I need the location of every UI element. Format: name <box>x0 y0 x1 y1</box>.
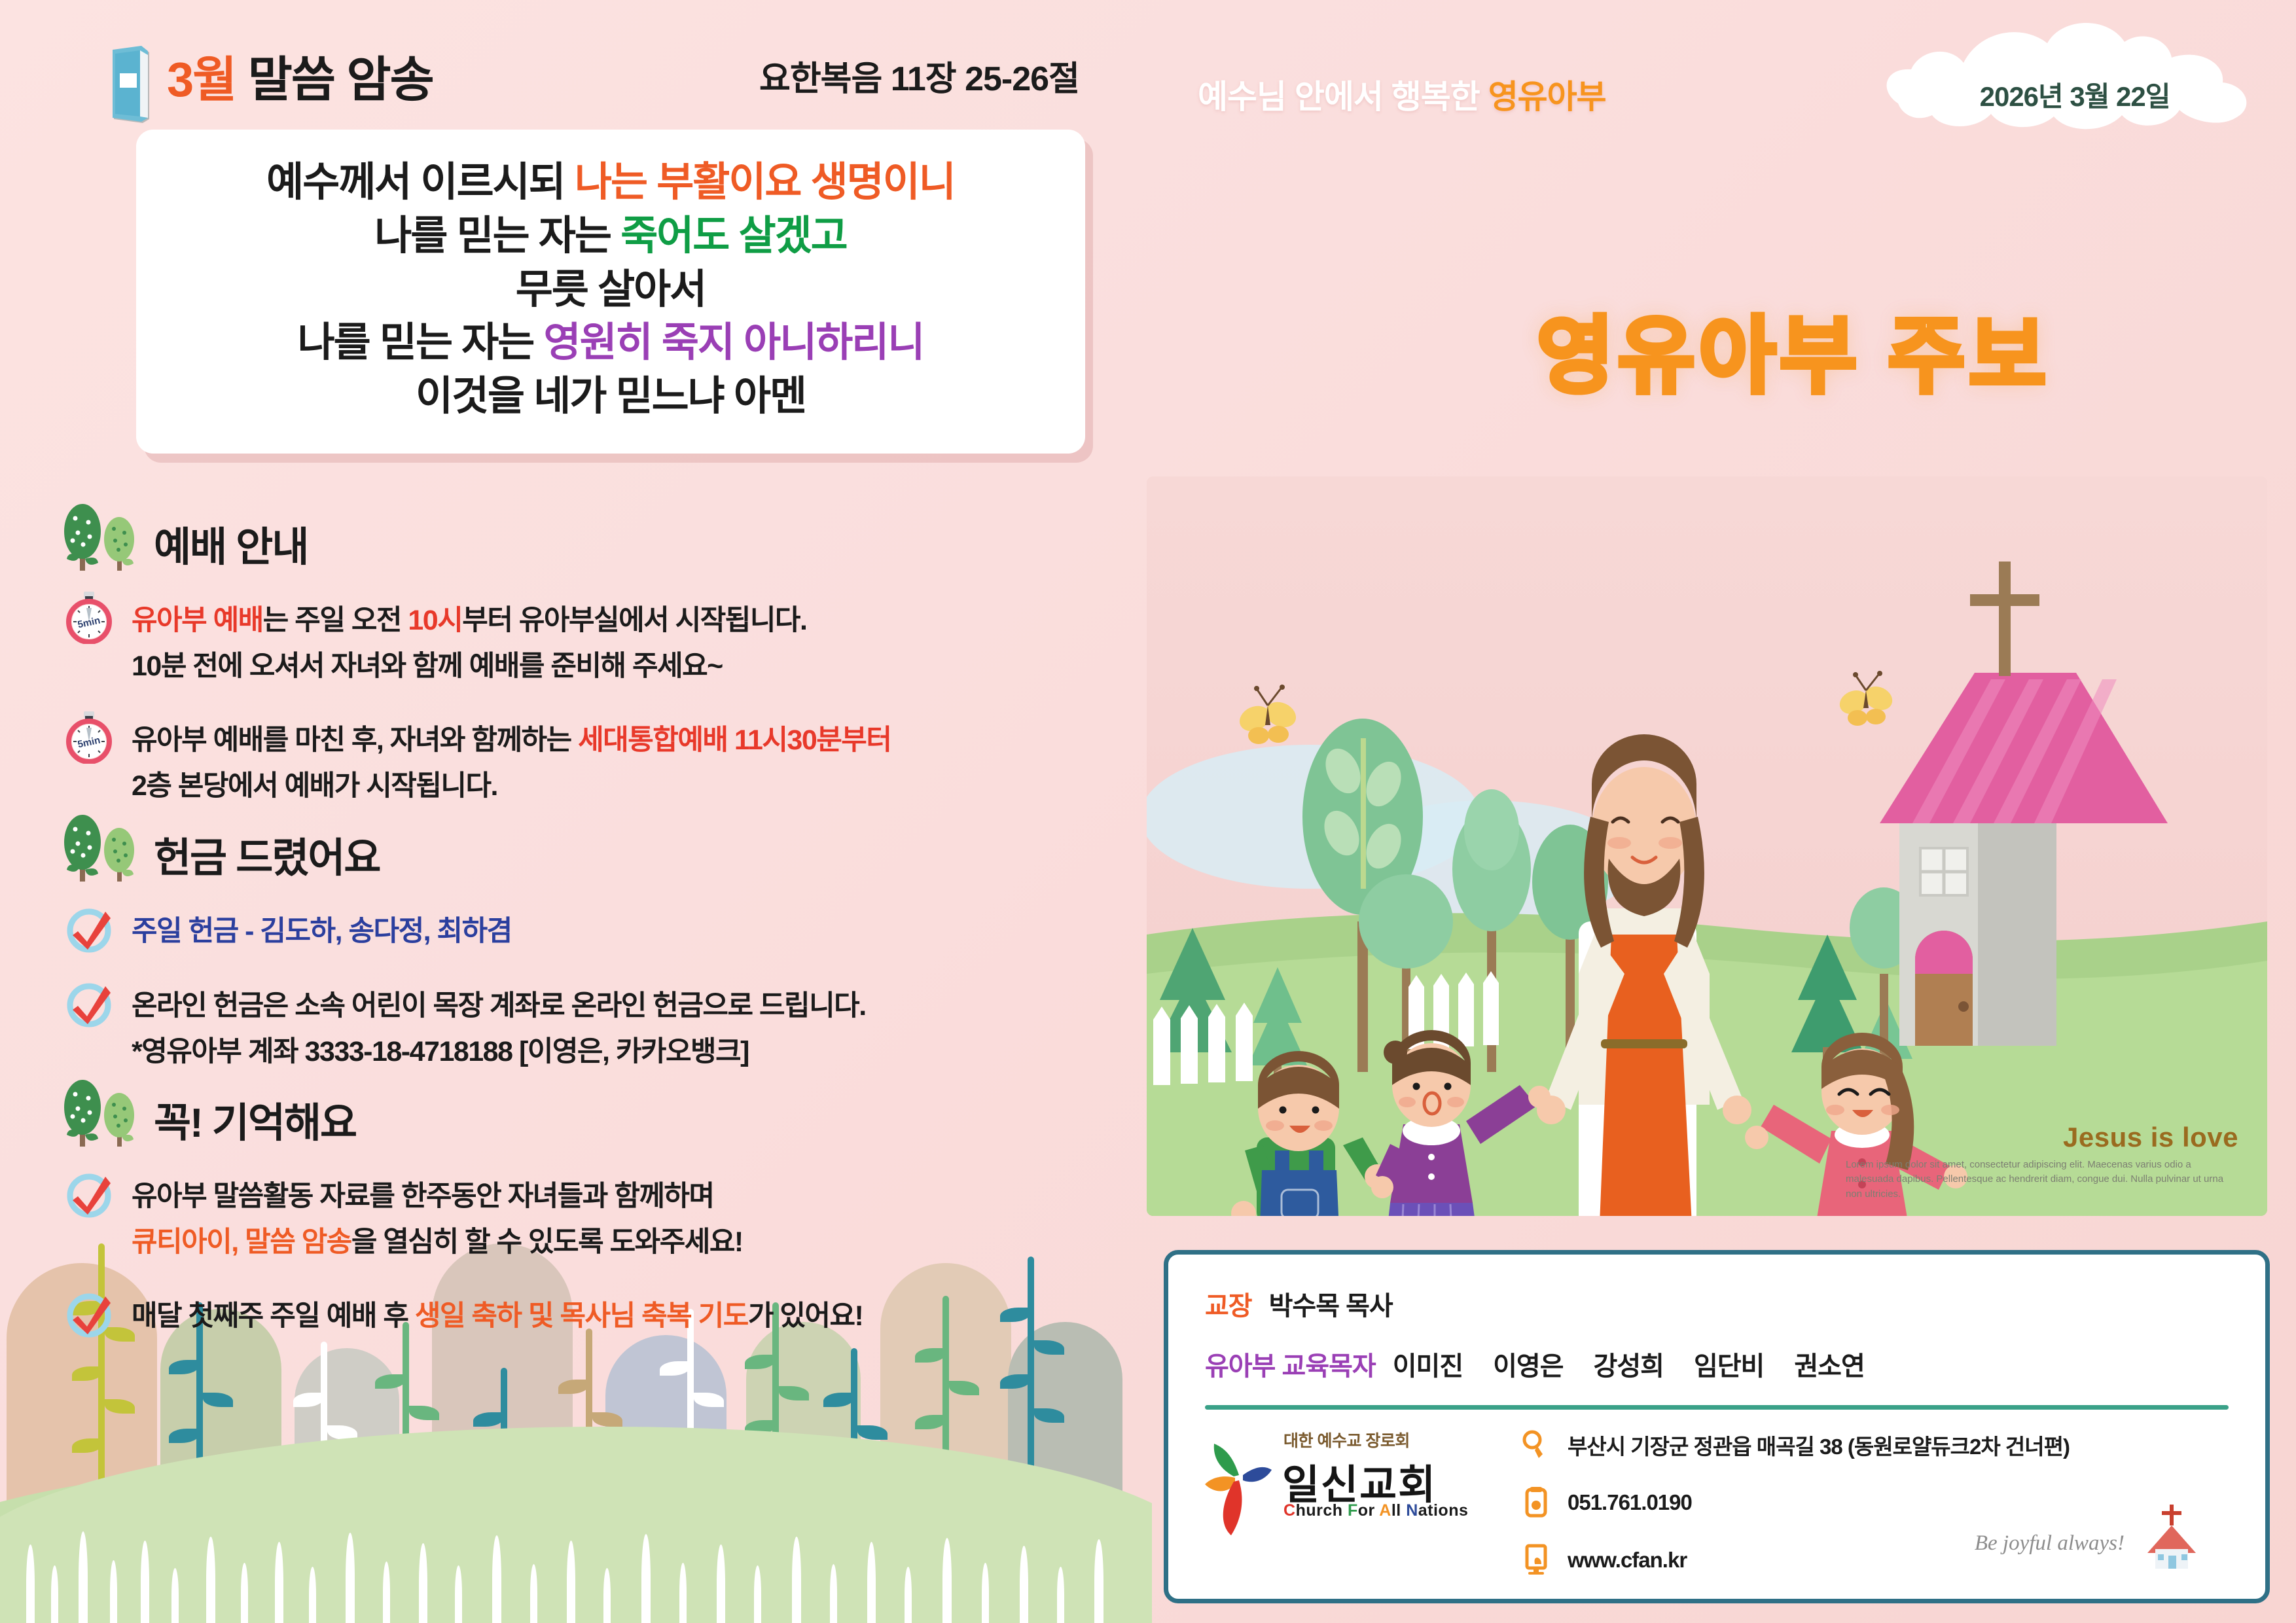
bulletin-main-title: 영유아부 주보 <box>1414 288 2173 409</box>
trees-icon <box>62 504 142 572</box>
check-circle-icon <box>62 976 116 1029</box>
verse-line: 예수께서 이르시되 나는 부활이요 생명이니 <box>156 156 1066 209</box>
monitor-icon <box>1519 1543 1553 1577</box>
section-header: 헌금 드렸어요 <box>62 815 1122 883</box>
date-cloud: 2026년 3월 22일 <box>1872 12 2278 133</box>
list-item: 온라인 헌금은 소속 어린이 목장 계좌로 온라인 헌금으로 드립니다.*영유아… <box>62 980 1122 1075</box>
principal-row: 교장 박수목 목사 <box>1205 1285 2229 1323</box>
list-item: 5min 유아부 예배는 주일 오전 10시부터 유아부실에서 시작됩니다.10… <box>62 594 1122 689</box>
memory-verse-card: 예수께서 이르시되 나는 부활이요 생명이니나를 믿는 자는 죽어도 살겠고무릇… <box>136 130 1085 454</box>
item-segment-0: 주일 헌금 - 김도하, 송다정, 최하겸 <box>132 916 512 947</box>
logo-denomination: 대한 예수교 장로회 <box>1283 1428 1410 1452</box>
contact-text: 051.761.0190 <box>1568 1490 1692 1515</box>
book-icon <box>111 46 152 123</box>
info-divider <box>1205 1405 2229 1410</box>
contact-row: 부산시 기장군 정관읍 매곡길 38 (동원로얄듀크2차 건너편) <box>1519 1428 2229 1462</box>
item-segment-0: 2층 본당에서 예배가 시작됩니다. <box>132 770 497 802</box>
logo-english-part: hurch <box>1296 1501 1348 1520</box>
section-offering: 헌금 드렸어요 주일 헌금 - 김도하, 송다정, 최하겸 온라인 헌금은 소속… <box>62 815 1122 1099</box>
verse-line: 무릇 살아서 <box>156 263 1066 317</box>
trees-icon <box>62 815 142 883</box>
logo-english-part: N <box>1406 1501 1418 1520</box>
stopwatch-icon: 5min <box>62 590 116 644</box>
teacher-name: 임단비 <box>1694 1345 1764 1383</box>
verse-segment-0: 나를 믿는 자는 <box>374 213 620 259</box>
item-segment-0: 큐티아이, 말씀 암송 <box>132 1226 351 1258</box>
contact-row: 051.761.0190 <box>1519 1486 2229 1520</box>
item-segment-0: 매달 첫째주 주일 예배 후 <box>132 1300 415 1332</box>
illustration-body-text: Lorem ipsum dolor sit amet, consectetur … <box>1846 1158 2238 1202</box>
church-logo: 대한 예수교 장로회 일신교회 Church For All Nations <box>1205 1428 1486 1601</box>
monitor-icon <box>1519 1543 1553 1577</box>
logo-english-part: F <box>1348 1501 1358 1520</box>
check-circle-icon <box>62 1286 116 1340</box>
location-search-icon <box>1519 1428 1553 1462</box>
title-rest-label: 말씀 암송 <box>236 52 433 107</box>
logo-english-part: A <box>1379 1501 1391 1520</box>
verse-segment-0: 이것을 네가 믿느냐 아멘 <box>416 374 806 419</box>
section-title: 꼭! 기억해요 <box>154 1103 356 1148</box>
butterfly-icon <box>1836 671 1896 726</box>
verse-lines: 예수께서 이르시되 나는 부활이요 생명이니나를 믿는 자는 죽어도 살겠고무릇… <box>156 156 1066 423</box>
principal-name: 박수목 목사 <box>1269 1285 1393 1323</box>
logo-english-part: or <box>1358 1501 1380 1520</box>
item-line: 10분 전에 오셔서 자녀와 함께 예배를 준비해 주세요~ <box>132 644 806 690</box>
item-segment-0: *영유아부 계좌 3333-18-4718188 [이영은, 카카오뱅크] <box>132 1036 749 1067</box>
stopwatch-icon: 5min <box>62 590 116 644</box>
phone-icon <box>1519 1486 1553 1520</box>
stopwatch-icon: 5min <box>62 710 116 764</box>
trees-icon <box>62 1080 142 1148</box>
item-line: 2층 본당에서 예배가 시작됩니다. <box>132 764 891 810</box>
teacher-name-list: 이미진이영은강성희임단비권소연 <box>1393 1345 1865 1383</box>
logo-english-part: C <box>1283 1501 1296 1520</box>
item-text: 유아부 예배를 마친 후, 자녀와 함께하는 세대통합예배 11시30분부터2층… <box>132 714 891 809</box>
phone-icon <box>1519 1486 1553 1520</box>
verse-segment-0: 나를 믿는 자는 <box>298 320 544 365</box>
item-segment-1: 생일 축하 및 목사님 축복 기도 <box>415 1300 748 1332</box>
item-segment-0: 10분 전에 오셔서 자녀와 함께 예배를 준비해 주세요~ <box>132 651 723 682</box>
list-item: 주일 헌금 - 김도하, 송다정, 최하겸 <box>62 905 1122 955</box>
teacher-name: 이미진 <box>1393 1345 1463 1383</box>
tagline-prefix: 예수님 안에서 행복한 <box>1198 79 1488 115</box>
check-circle-icon <box>62 901 116 955</box>
verse-line: 나를 믿는 자는 영원히 죽지 아니하리니 <box>156 316 1066 370</box>
verse-segment-0: 무릇 살아서 <box>516 267 706 312</box>
list-item: 유아부 말씀활동 자료를 한주동안 자녀들과 함께하며큐티아이, 말씀 암송을 … <box>62 1170 1122 1265</box>
item-line: 온라인 헌금은 소속 어린이 목장 계좌로 온라인 헌금으로 드립니다. <box>132 984 866 1029</box>
item-segment-0: 유아부 예배를 마친 후, 자녀와 함께하는 <box>132 724 578 756</box>
trees-icon <box>62 504 142 572</box>
item-segment-1: 세대통합예배 11시30분부터 <box>578 724 891 756</box>
item-line: 주일 헌금 - 김도하, 송다정, 최하겸 <box>132 909 512 955</box>
item-segment-3: 부터 유아부실에서 시작됩니다. <box>462 605 806 636</box>
logo-english-part: ations <box>1418 1501 1469 1520</box>
title-month-label: 3월 <box>167 52 236 107</box>
item-line: 매달 첫째주 주일 예배 후 생일 축하 및 목사님 축복 기도가 있어요! <box>132 1294 863 1340</box>
section-remember: 꼭! 기억해요 유아부 말씀활동 자료를 한주동안 자녀들과 함께하며큐티아이,… <box>62 1080 1122 1364</box>
item-segment-0: 유아부 예배 <box>132 605 263 636</box>
mini-church-icon <box>2142 1502 2202 1570</box>
section-title: 예배 안내 <box>154 527 308 572</box>
cloud-shape-icon <box>1872 12 2278 133</box>
check-circle-icon <box>62 1286 116 1340</box>
trees-icon <box>62 1080 142 1148</box>
teacher-name: 이영은 <box>1493 1345 1563 1383</box>
verse-line: 이것을 네가 믿느냐 아멘 <box>156 370 1066 423</box>
check-circle-icon <box>62 1166 116 1220</box>
slogan-text: Be joyful always! <box>1975 1531 2125 1556</box>
location-search-icon <box>1519 1428 1553 1462</box>
teachers-row: 유아부 교육목자 이미진이영은강성희임단비권소연 <box>1205 1345 2229 1383</box>
item-text: 매달 첫째주 주일 예배 후 생일 축하 및 목사님 축복 기도가 있어요! <box>132 1290 863 1340</box>
check-circle-icon <box>62 976 116 1029</box>
jesus-with-children-illustration: Jesus is love Lorem ipsum dolor sit amet… <box>1147 476 2267 1216</box>
verse-segment-0: 예수께서 이르시되 <box>266 160 575 205</box>
illustration-caption: Jesus is love <box>2063 1122 2238 1153</box>
verse-line: 나를 믿는 자는 죽어도 살겠고 <box>156 209 1066 263</box>
verse-segment-1: 죽어도 살겠고 <box>620 213 846 259</box>
verse-reference: 요한복음 11장 25-26절 <box>759 51 1079 100</box>
butterfly-icon <box>1236 685 1300 744</box>
illustration-scene <box>1147 476 2267 1216</box>
item-text: 유아부 말씀활동 자료를 한주동안 자녀들과 함께하며큐티아이, 말씀 암송을 … <box>132 1170 743 1265</box>
item-text: 주일 헌금 - 김도하, 송다정, 최하겸 <box>132 905 512 955</box>
item-line: 큐티아이, 말씀 암송을 열심히 할 수 있도록 도와주세요! <box>132 1220 743 1266</box>
verse-segment-1: 영원히 죽지 아니하리니 <box>544 320 924 365</box>
item-segment-0: 유아부 말씀활동 자료를 한주동안 자녀들과 함께하며 <box>132 1181 714 1212</box>
item-segment-1: 을 열심히 할 수 있도록 도와주세요! <box>351 1226 743 1258</box>
contact-text: www.cfan.kr <box>1568 1548 1687 1573</box>
check-circle-icon <box>62 1166 116 1220</box>
bulletin-page: 3월 말씀 암송 요한복음 11장 25-26절 예수님 안에서 행복한 영유아… <box>0 0 2296 1623</box>
item-segment-2: 10시 <box>408 605 462 636</box>
item-line: 유아부 예배를 마친 후, 자녀와 함께하는 세대통합예배 11시30분부터 <box>132 718 891 764</box>
item-text: 유아부 예배는 주일 오전 10시부터 유아부실에서 시작됩니다.10분 전에 … <box>132 594 806 689</box>
list-item: 매달 첫째주 주일 예배 후 생일 축하 및 목사님 축복 기도가 있어요! <box>62 1290 1122 1340</box>
page-title: 3월 말씀 암송 <box>167 41 433 111</box>
teachers-label: 유아부 교육목자 <box>1205 1345 1376 1383</box>
church-emblem-icon <box>1205 1437 1273 1537</box>
item-line: *영유아부 계좌 3333-18-4718188 [이영은, 카카오뱅크] <box>132 1029 866 1075</box>
section-worship-guide: 예배 안내 5min 유아부 예배는 주일 오전 10시부터 유아부실에서 시작… <box>62 504 1122 834</box>
trees-icon <box>62 815 142 883</box>
bulletin-date: 2026년 3월 22일 <box>1872 75 2278 115</box>
teacher-name: 권소연 <box>1794 1345 1864 1383</box>
list-item: 5min 유아부 예배를 마친 후, 자녀와 함께하는 세대통합예배 11시30… <box>62 714 1122 809</box>
item-line: 유아부 예배는 주일 오전 10시부터 유아부실에서 시작됩니다. <box>132 598 806 644</box>
stopwatch-icon: 5min <box>62 710 116 764</box>
section-title: 헌금 드렸어요 <box>154 838 380 883</box>
item-text: 온라인 헌금은 소속 어린이 목장 계좌로 온라인 헌금으로 드립니다.*영유아… <box>132 980 866 1075</box>
item-segment-1: 는 주일 오전 <box>263 605 408 636</box>
item-line: 유아부 말씀활동 자료를 한주동안 자녀들과 함께하며 <box>132 1174 743 1220</box>
check-circle-icon <box>62 901 116 955</box>
item-segment-2: 가 있어요! <box>748 1300 863 1332</box>
section-header: 꼭! 기억해요 <box>62 1080 1122 1148</box>
section-header: 예배 안내 <box>62 504 1122 572</box>
teacher-name: 강성희 <box>1594 1345 1664 1383</box>
verse-segment-1: 나는 부활이요 생명이니 <box>575 160 955 205</box>
principal-label: 교장 <box>1205 1285 1252 1323</box>
tagline-accent: 영유아부 <box>1488 79 1606 115</box>
logo-english-name: Church For All Nations <box>1283 1501 1468 1520</box>
contact-list: 부산시 기장군 정관읍 매곡길 38 (동원로얄듀크2차 건너편) 051.76… <box>1519 1428 2229 1601</box>
item-segment-0: 온라인 헌금은 소속 어린이 목장 계좌로 온라인 헌금으로 드립니다. <box>132 990 866 1022</box>
church-info-card: 교장 박수목 목사 유아부 교육목자 이미진이영은강성희임단비권소연 대한 예수… <box>1164 1250 2270 1603</box>
contact-text: 부산시 기장군 정관읍 매곡길 38 (동원로얄듀크2차 건너편) <box>1568 1429 2070 1461</box>
tagline: 예수님 안에서 행복한 영유아부 <box>1198 71 1606 118</box>
logo-english-part: ll <box>1391 1501 1406 1520</box>
